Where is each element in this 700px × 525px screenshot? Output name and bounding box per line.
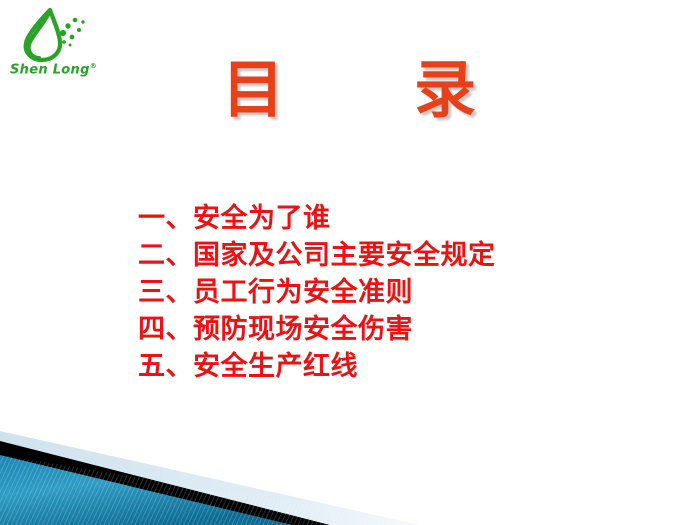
agenda-item-2[interactable]: 二、国家及公司主要安全规定 xyxy=(138,237,658,274)
slide-canvas: Shen Long® 目 录 一、安全为了谁 二、国家及公司主要安全规定 三、员… xyxy=(0,0,700,525)
agenda-item-4[interactable]: 四、预防现场安全伤害 xyxy=(138,311,658,348)
agenda-item-1[interactable]: 一、安全为了谁 xyxy=(138,200,658,237)
agenda-list: 一、安全为了谁 二、国家及公司主要安全规定 三、员工行为安全准则 四、预防现场安… xyxy=(138,200,658,385)
agenda-item-3[interactable]: 三、员工行为安全准则 xyxy=(138,274,658,311)
agenda-item-5[interactable]: 五、安全生产红线 xyxy=(138,348,658,385)
page-title: 目 录 xyxy=(0,55,700,124)
bottom-left-corner-decoration xyxy=(0,425,700,525)
